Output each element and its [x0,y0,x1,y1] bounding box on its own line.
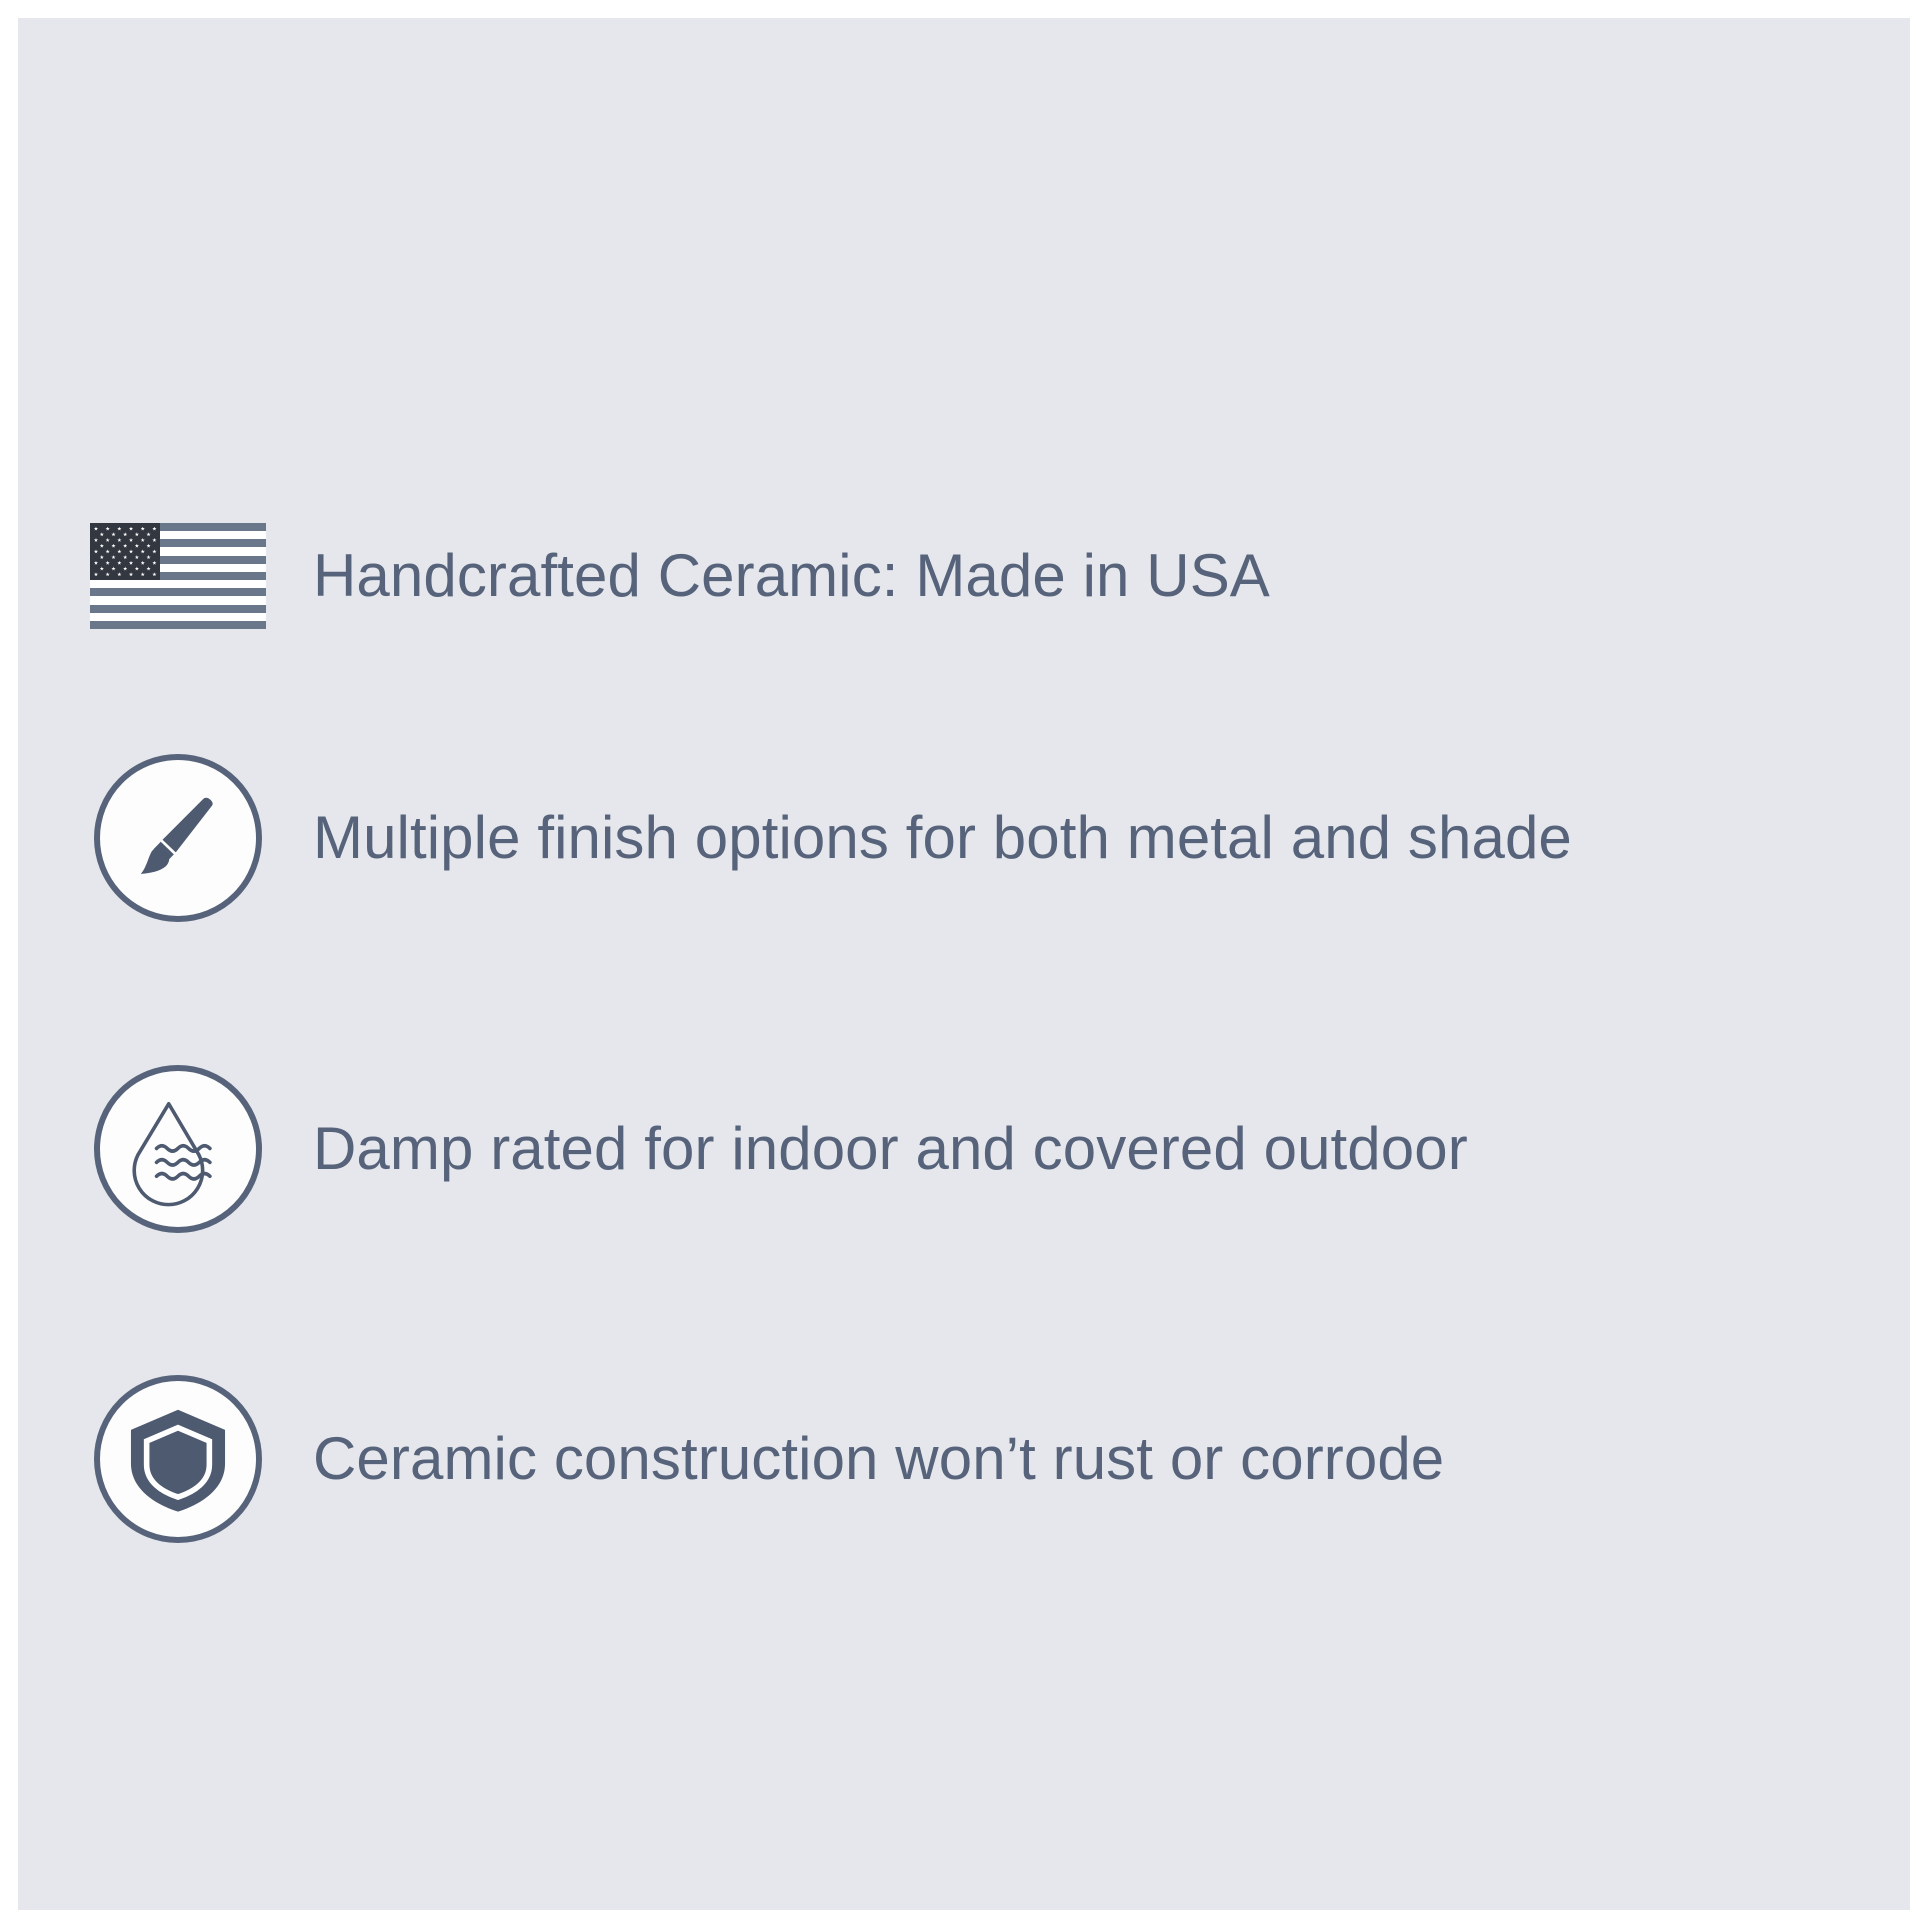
flag-star [129,538,133,542]
flag-star [94,527,98,531]
flag-stripe [90,621,266,629]
feature-icon-slot [90,750,266,926]
feature-row: Multiple finish options for both metal a… [90,750,1572,926]
feature-label: Handcrafted Ceramic: Made in USA [313,546,1270,606]
flag-star [135,555,139,559]
feature-label: Ceramic construction won’t rust or corro… [313,1429,1444,1489]
flag-star [123,532,127,536]
flag-star [94,572,98,576]
shield-icon [122,1403,234,1515]
flag-star [117,561,121,565]
flag-star [141,538,145,542]
flag-star [105,549,109,553]
flag-star [105,561,109,565]
flag-star [141,549,145,553]
flag-star [100,532,104,536]
flag-star [129,561,133,565]
flag-star [111,566,115,570]
paintbrush-icon [122,782,234,894]
feature-icon-slot [90,1371,266,1547]
flag-star [111,555,115,559]
flag-star [94,538,98,542]
feature-label: Multiple finish options for both metal a… [313,808,1572,868]
flag-star [117,549,121,553]
flag-star [141,527,145,531]
flag-star [152,549,156,553]
flag-canton [90,523,160,580]
flag-star [141,561,145,565]
flag-star [135,532,139,536]
flag-stripe [90,588,266,596]
flag-star [135,544,139,548]
flag-star [111,544,115,548]
flag-stripe [90,605,266,613]
flag-star [129,549,133,553]
flag-star [111,532,115,536]
flag-star [105,538,109,542]
flag-star [129,527,133,531]
flag-star [117,572,121,576]
water-drop-waves-icon [120,1091,236,1207]
flag-star [94,549,98,553]
feature-list: Handcrafted Ceramic: Made in USA [18,18,1910,1910]
icon-circle [94,1065,262,1233]
flag-star [152,561,156,565]
us-flag-icon [90,523,266,629]
flag-star [94,561,98,565]
flag-star [141,572,145,576]
flag-star [105,572,109,576]
flag-star [135,566,139,570]
feature-row: Handcrafted Ceramic: Made in USA [90,488,1270,664]
flag-star [152,538,156,542]
flag-star [146,555,150,559]
flag-star [123,544,127,548]
flag-star [123,555,127,559]
icon-circle [94,754,262,922]
flag-star [146,532,150,536]
feature-row: Ceramic construction won’t rust or corro… [90,1371,1444,1547]
flag-star [100,566,104,570]
feature-label: Damp rated for indoor and covered outdoo… [313,1119,1468,1179]
feature-row: Damp rated for indoor and covered outdoo… [90,1061,1468,1237]
feature-icon-slot [90,488,266,664]
flag-star [146,544,150,548]
flag-star [123,566,127,570]
flag-star [117,538,121,542]
flag-star [152,572,156,576]
flag-star [105,527,109,531]
flag-star [100,555,104,559]
feature-icon-slot [90,1061,266,1237]
flag-star [117,527,121,531]
feature-panel: Handcrafted Ceramic: Made in USA [18,18,1910,1910]
flag-star [146,566,150,570]
icon-circle [94,1375,262,1543]
flag-star [100,544,104,548]
flag-star [129,572,133,576]
flag-star [152,527,156,531]
